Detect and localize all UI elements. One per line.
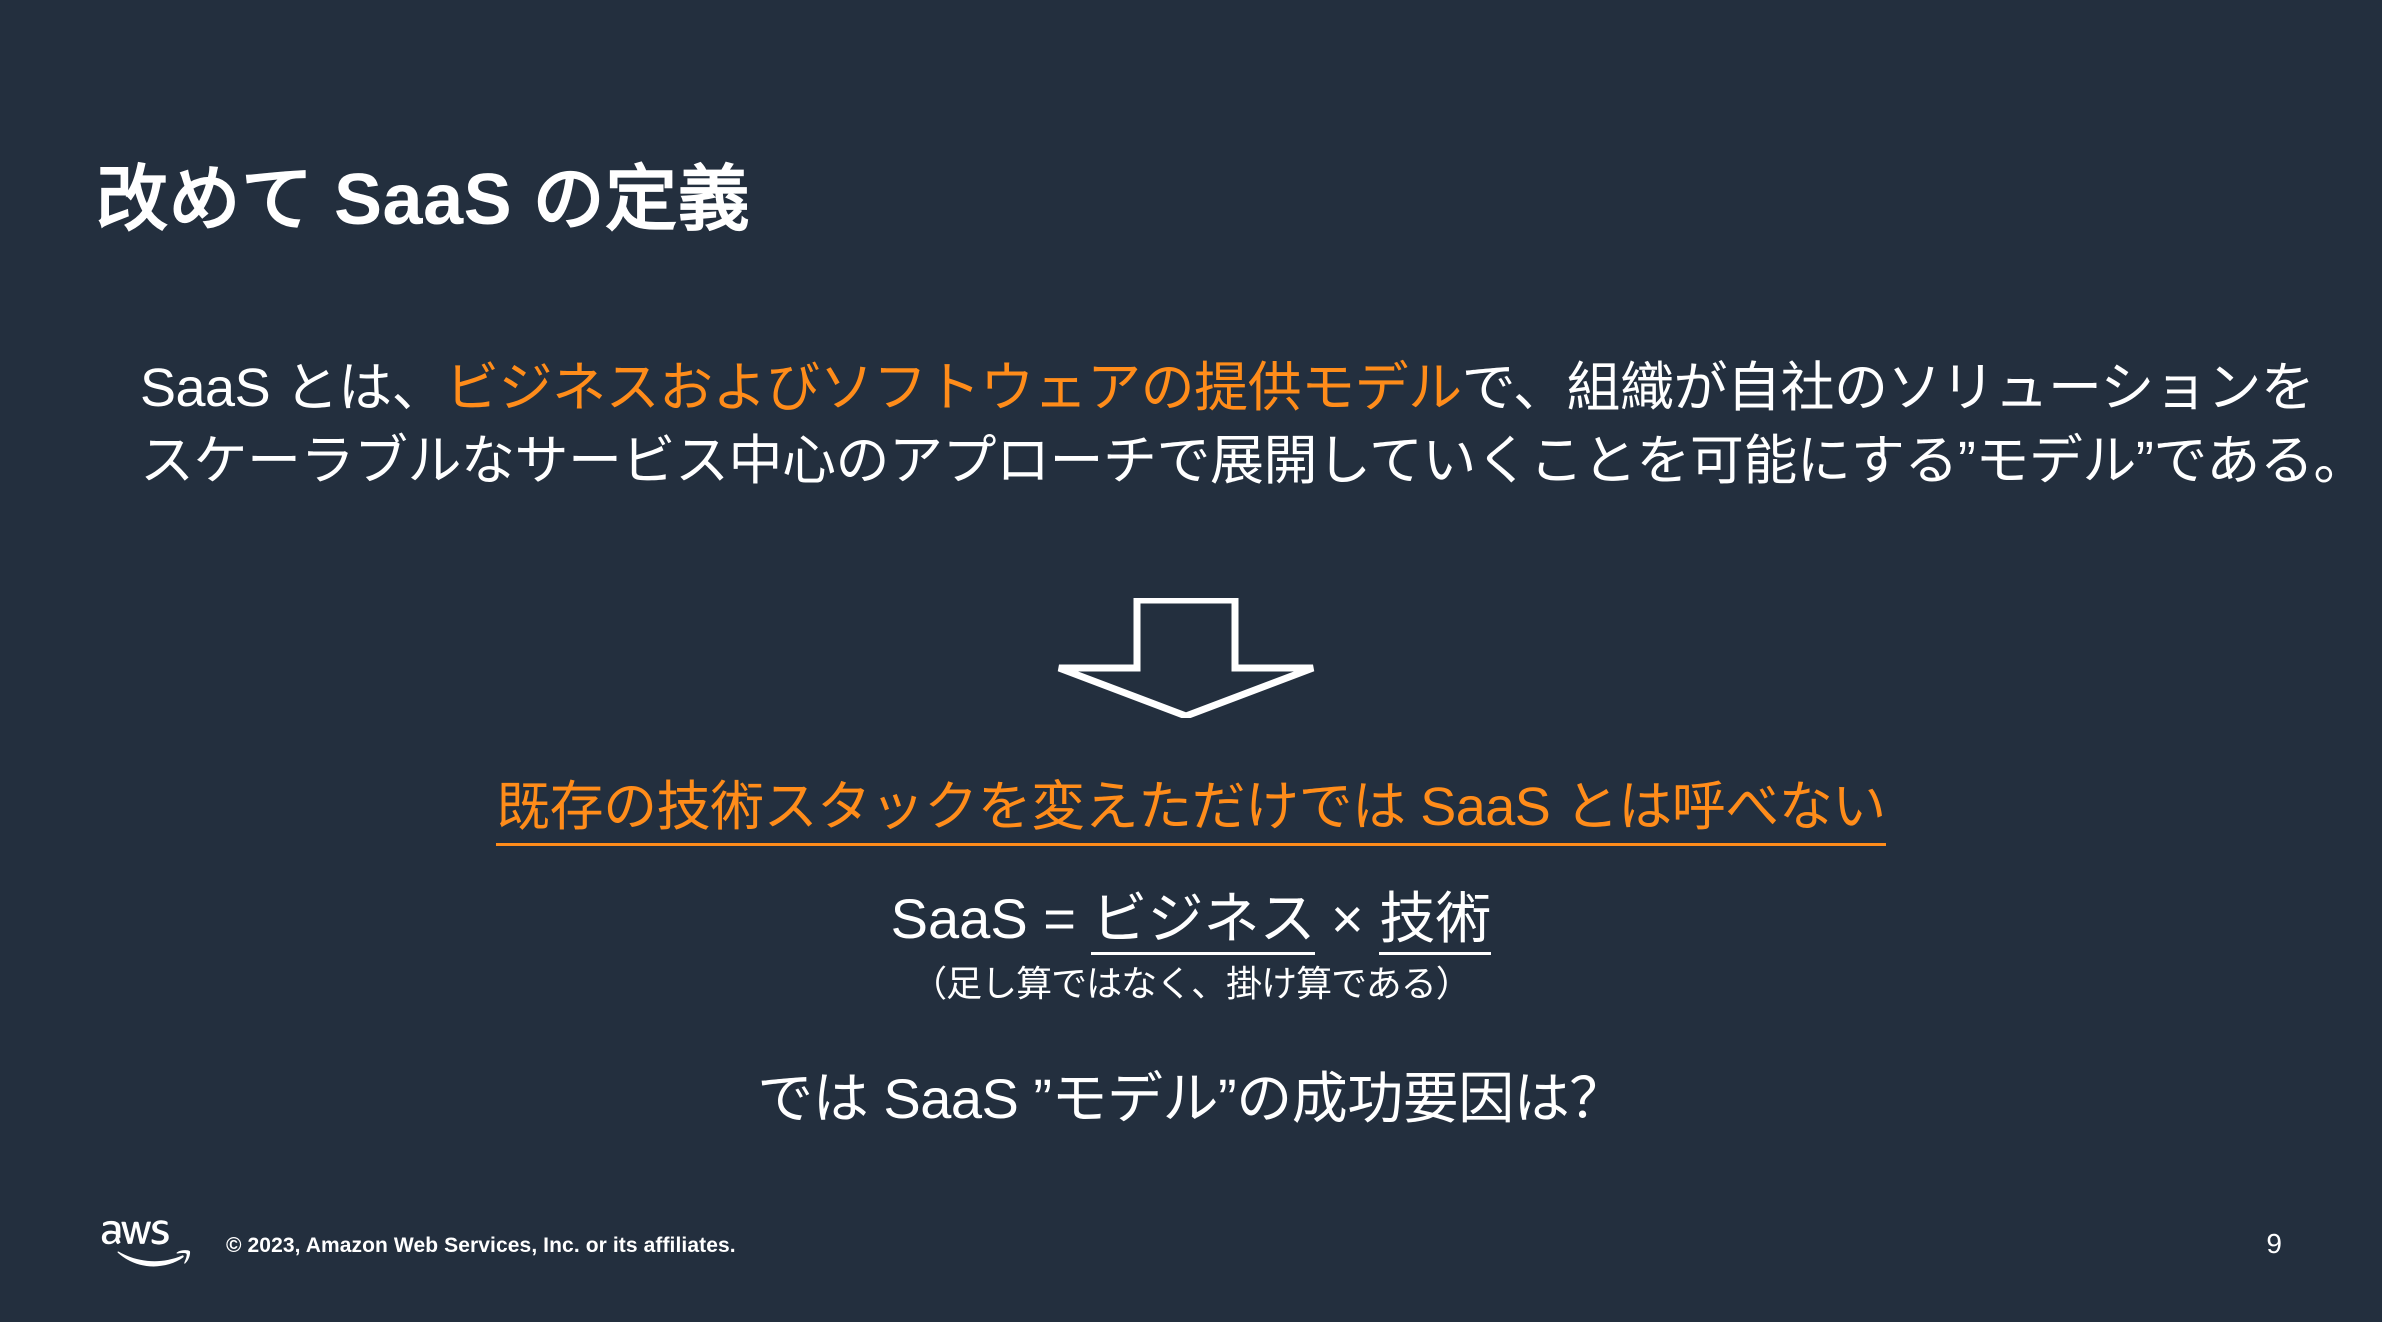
definition-line1-suffix: で、組織が自社のソリューションを — [1462, 358, 2315, 418]
copyright-text: © 2023, Amazon Web Services, Inc. or its… — [226, 1234, 736, 1258]
equation-note: （足し算ではなく、掛け算である） — [0, 963, 2382, 1004]
down-arrow-outline-icon — [1055, 598, 1317, 718]
conclusion-headline-wrap: 既存の技術スタックを変えただけでは SaaS とは呼べない — [0, 778, 2382, 846]
conclusion-block: 既存の技術スタックを変えただけでは SaaS とは呼べない SaaS = ビジネ… — [0, 778, 2382, 1131]
definition-line-1: SaaS とは、ビジネスおよびソフトウェアの提供モデルで、組織が自社のソリューシ… — [140, 352, 2260, 425]
closing-question: では SaaS ”モデル”の成功要因は？ — [0, 1067, 2382, 1131]
page-number: 9 — [2266, 1228, 2282, 1260]
definition-line-2: スケーラブルなサービス中心のアプローチで展開していくことを可能にする”モデル”で… — [140, 425, 2260, 498]
definition-paragraph: SaaS とは、ビジネスおよびソフトウェアの提供モデルで、組織が自社のソリューシ… — [140, 352, 2260, 499]
page-title: 改めて SaaS の定義 — [96, 140, 750, 245]
equation-line: SaaS = ビジネス × 技術 — [0, 888, 2382, 951]
conclusion-headline: 既存の技術スタックを変えただけでは SaaS とは呼べない — [496, 778, 1886, 846]
aws-logo-icon — [100, 1216, 192, 1272]
equation-term-technology: 技術 — [1379, 887, 1491, 955]
equation-operator: × — [1315, 887, 1379, 950]
slide-canvas: 改めて SaaS の定義 SaaS とは、ビジネスおよびソフトウェアの提供モデル… — [0, 0, 2382, 1322]
equation-term-business: ビジネス — [1091, 887, 1315, 955]
equation-prefix: SaaS = — [891, 887, 1092, 950]
definition-highlight: ビジネスおよびソフトウェアの提供モデル — [445, 358, 1462, 418]
definition-line1-prefix: SaaS とは、 — [140, 358, 445, 418]
slide-footer: © 2023, Amazon Web Services, Inc. or its… — [0, 1182, 2382, 1322]
